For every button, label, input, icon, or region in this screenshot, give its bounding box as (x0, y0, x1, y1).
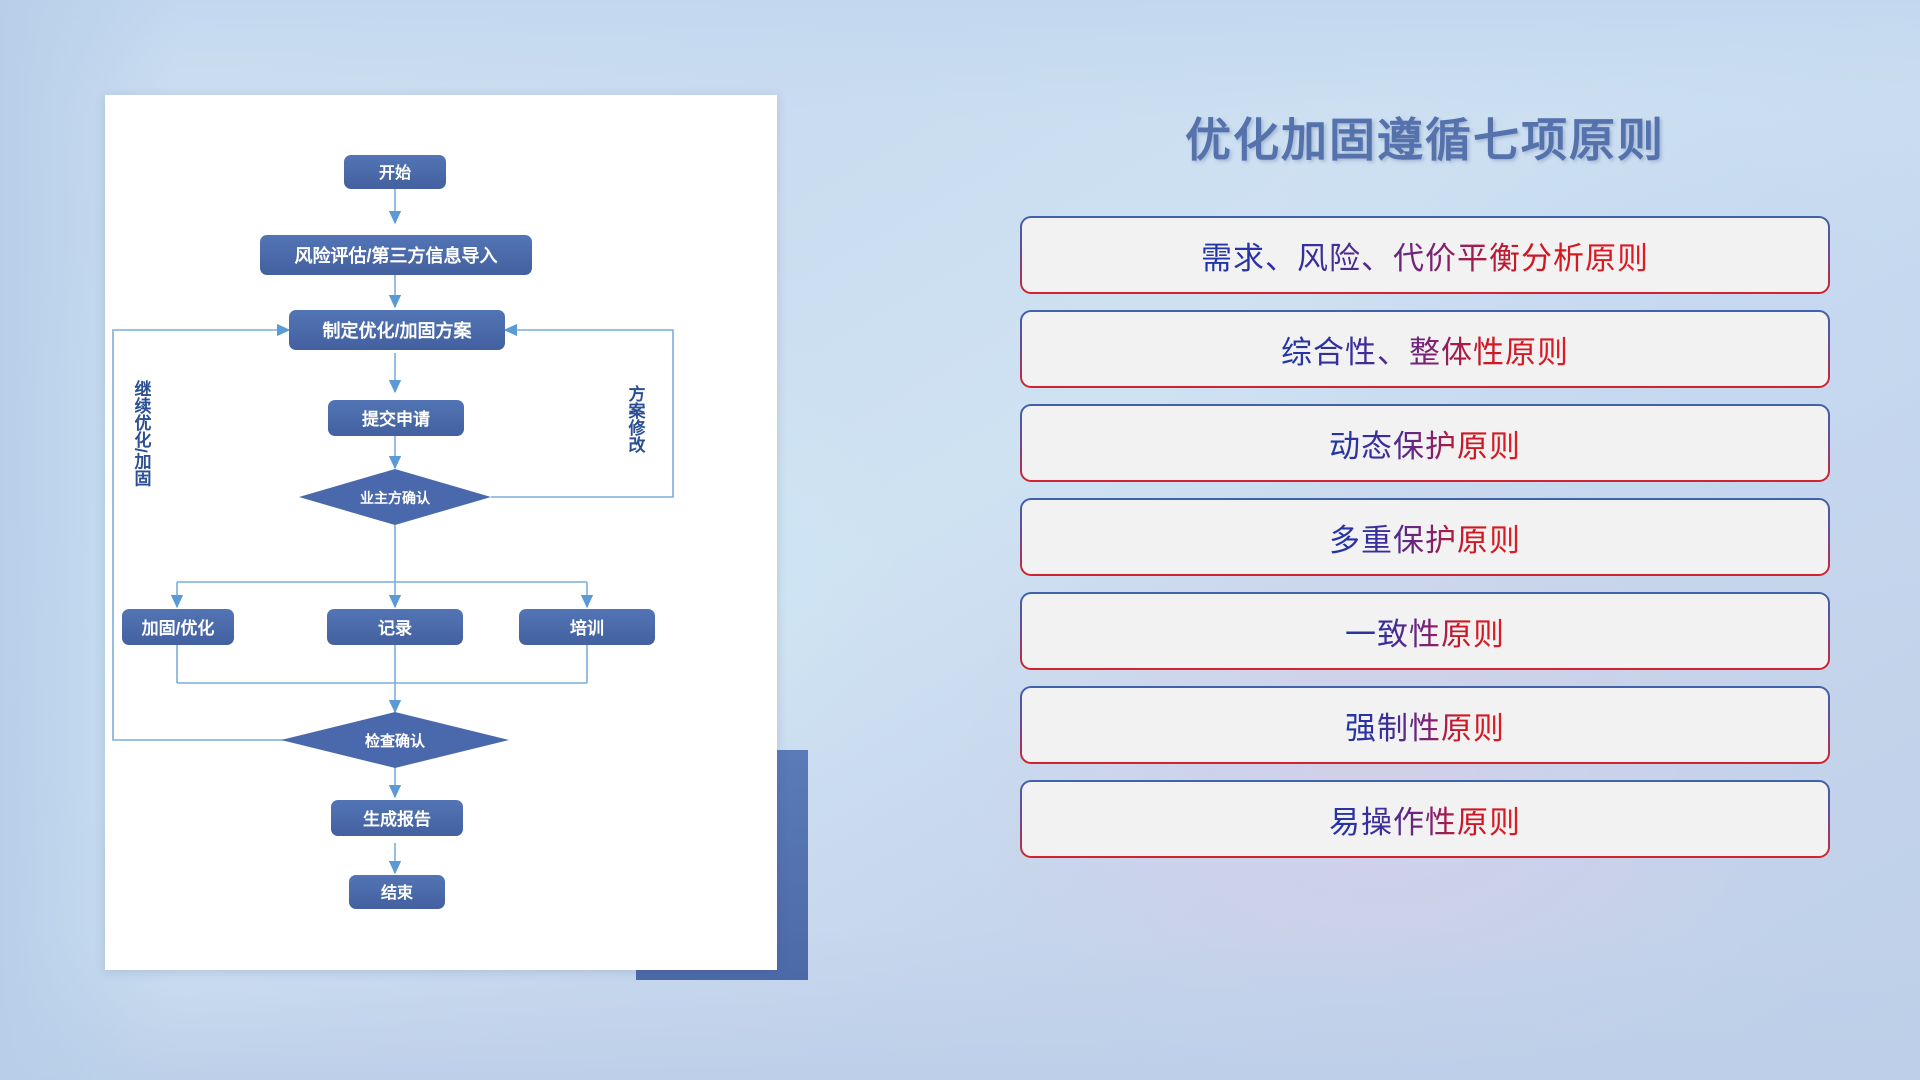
principle-item-3-inner: 动态保护原则 (1022, 406, 1828, 480)
flow-node-reinforce-label: 加固/优化 (141, 618, 215, 638)
principles-panel-title: 优化加固遵循七项原则 (1020, 104, 1830, 170)
principle-item-4-label: 多重保护原则 (1329, 515, 1521, 560)
principle-item-6-label: 强制性原则 (1345, 703, 1505, 748)
principle-item-2[interactable]: 综合性、整体性原则 (1020, 310, 1830, 388)
flowchart-card: 开始 风险评估/第三方信息导入 制定优化/加固方案 提交申请 业主方确认 加固/… (105, 95, 777, 970)
flow-node-start[interactable]: 开始 (344, 155, 446, 189)
flow-node-risk-label: 风险评估/第三方信息导入 (295, 245, 498, 266)
flow-node-record-label: 记录 (378, 619, 412, 638)
edge-label-continue-optimize: 继续优化/加固 (132, 379, 153, 488)
principle-item-4-inner: 多重保护原则 (1022, 500, 1828, 574)
principle-item-7-label: 易操作性原则 (1329, 797, 1521, 842)
flow-node-plan-label: 制定优化/加固方案 (322, 320, 472, 341)
principle-item-6[interactable]: 强制性原则 (1020, 686, 1830, 764)
principle-item-5-inner: 一致性原则 (1022, 594, 1828, 668)
principle-item-2-inner: 综合性、整体性原则 (1022, 312, 1828, 386)
principle-item-1-inner: 需求、风险、代价平衡分析原则 (1022, 218, 1828, 292)
principle-item-6-inner: 强制性原则 (1022, 688, 1828, 762)
principle-item-1-label: 需求、风险、代价平衡分析原则 (1201, 233, 1649, 278)
principle-item-3-label: 动态保护原则 (1329, 421, 1521, 466)
flow-node-training[interactable]: 培训 (519, 609, 655, 645)
flow-node-check[interactable]: 检查确认 (281, 712, 509, 768)
flow-node-end-label: 结束 (380, 883, 414, 902)
flowchart-diagram: 开始 风险评估/第三方信息导入 制定优化/加固方案 提交申请 业主方确认 加固/… (105, 95, 777, 970)
principles-panel: 优化加固遵循七项原则 需求、风险、代价平衡分析原则 综合性、整体性原则 动态保护… (1020, 104, 1830, 1004)
principle-item-7[interactable]: 易操作性原则 (1020, 780, 1830, 858)
flow-node-risk[interactable]: 风险评估/第三方信息导入 (260, 235, 532, 275)
edge-label-plan-revision: 方案修改 (626, 384, 647, 454)
principles-list: 需求、风险、代价平衡分析原则 综合性、整体性原则 动态保护原则 多重保护原则 一… (1020, 216, 1830, 858)
flow-node-report-label: 生成报告 (363, 809, 431, 829)
flow-node-owner-confirm[interactable]: 业主方确认 (299, 469, 491, 525)
flow-node-record[interactable]: 记录 (327, 609, 463, 645)
flow-node-training-label: 培训 (570, 618, 604, 638)
flow-node-report[interactable]: 生成报告 (331, 800, 463, 836)
flow-node-submit-label: 提交申请 (362, 409, 430, 429)
flow-node-submit[interactable]: 提交申请 (328, 400, 464, 436)
principle-item-5-label: 一致性原则 (1345, 609, 1505, 654)
flow-node-owner-confirm-label: 业主方确认 (360, 490, 431, 506)
flow-node-reinforce[interactable]: 加固/优化 (122, 609, 234, 645)
flow-node-end[interactable]: 结束 (349, 875, 445, 909)
principle-item-3[interactable]: 动态保护原则 (1020, 404, 1830, 482)
connector-owner-to-plan-loop (491, 330, 673, 497)
principle-item-1[interactable]: 需求、风险、代价平衡分析原则 (1020, 216, 1830, 294)
flow-node-start-label: 开始 (379, 163, 411, 182)
principle-item-5[interactable]: 一致性原则 (1020, 592, 1830, 670)
flow-node-plan[interactable]: 制定优化/加固方案 (289, 310, 505, 350)
connector-layer (113, 182, 673, 873)
principle-item-4[interactable]: 多重保护原则 (1020, 498, 1830, 576)
principle-item-2-label: 综合性、整体性原则 (1281, 327, 1569, 372)
principle-item-7-inner: 易操作性原则 (1022, 782, 1828, 856)
flow-node-check-label: 检查确认 (365, 732, 426, 750)
